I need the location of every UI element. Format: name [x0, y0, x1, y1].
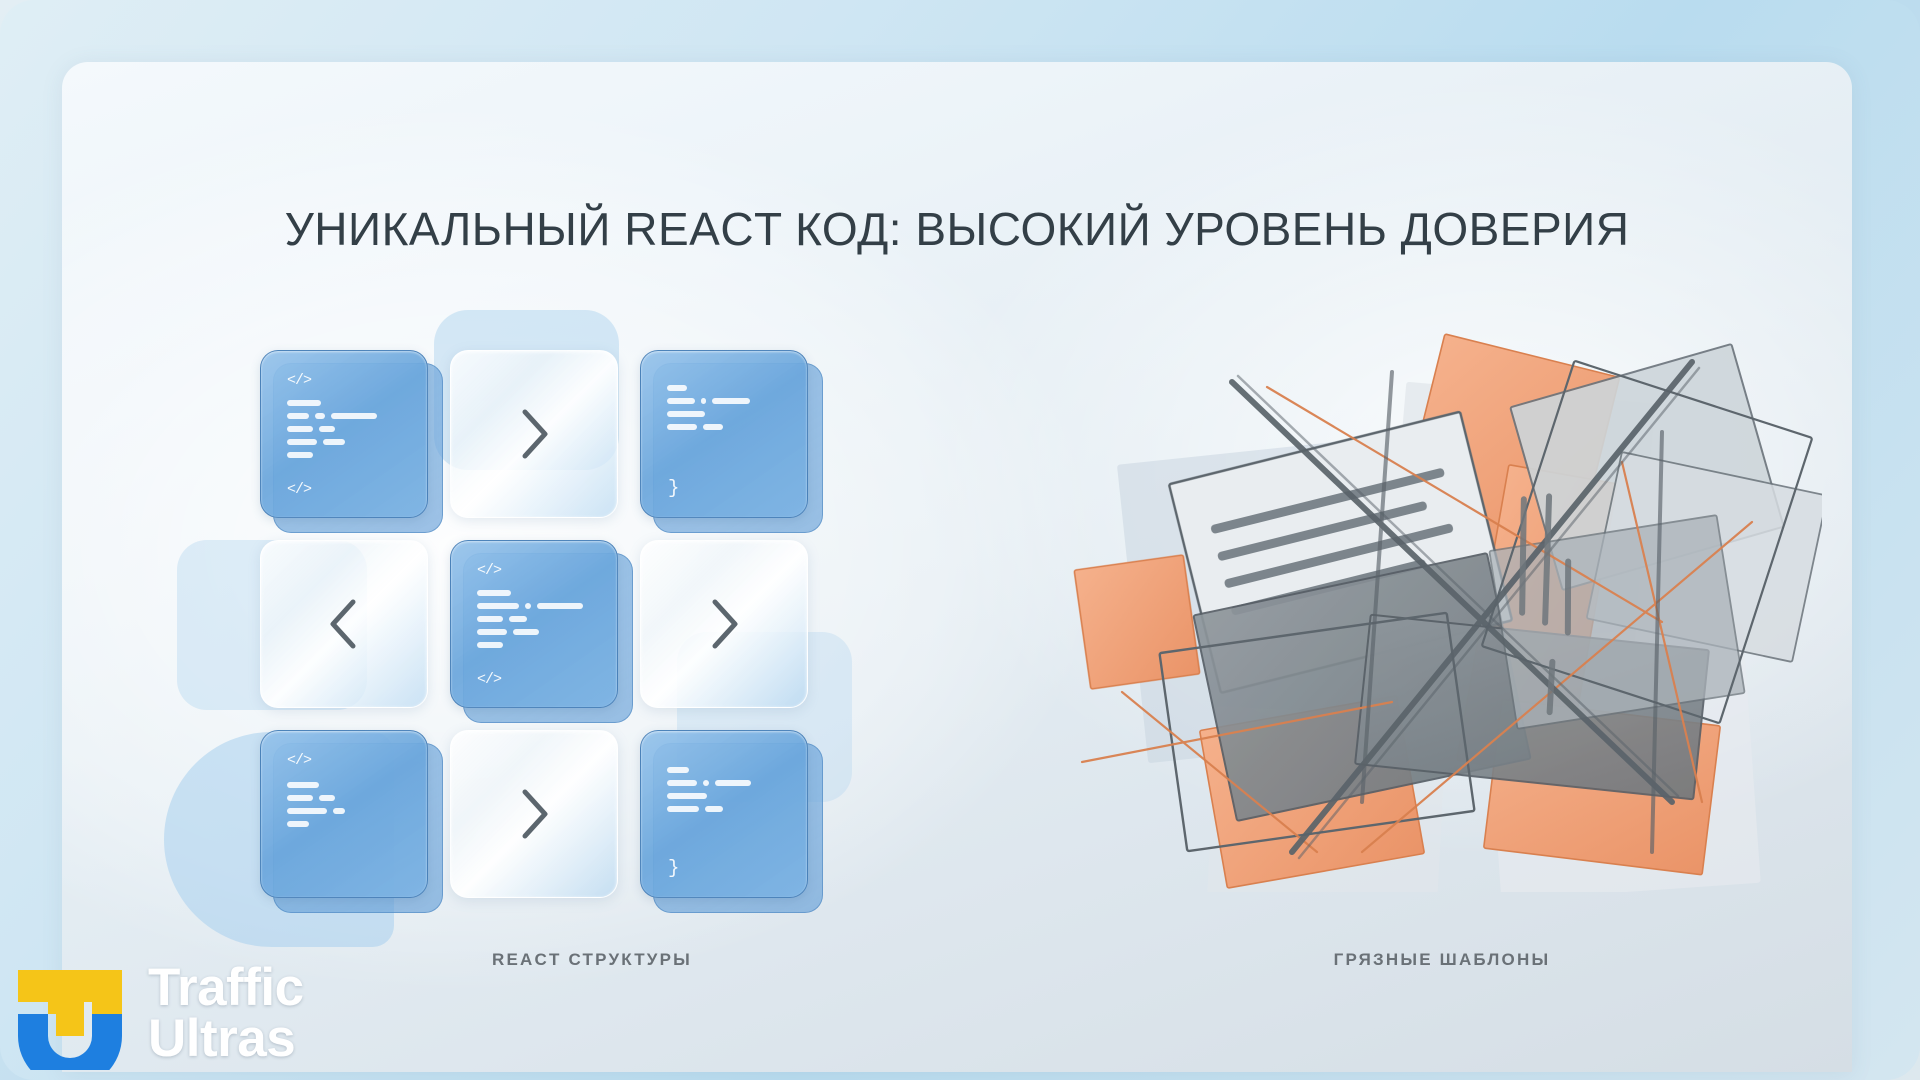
slide-root: УНИКАЛЬНЫЙ REACT КОД: ВЫСОКИЙ УРОВЕНЬ ДО… [0, 0, 1920, 1080]
code-tile-center[interactable]: </> </> [450, 540, 618, 708]
chevron-right-icon [641, 541, 807, 707]
code-lines: </> [287, 373, 413, 465]
panel-messy-templates: ГРЯЗНЫЕ ШАБЛОНЫ [1062, 332, 1822, 892]
close-brace-icon: } [668, 857, 679, 879]
tile-face: </> [260, 730, 428, 898]
code-tile-2[interactable]: } [640, 350, 808, 518]
tile-face: </> </> [260, 350, 428, 518]
brand-name-line2: Ultras [148, 1014, 304, 1065]
messy-templates-illustration [1062, 332, 1822, 892]
open-tag-icon: </> [287, 373, 413, 388]
caption-react-structures: REACT СТРУКТУРЫ [212, 950, 972, 970]
tile-face [450, 350, 618, 518]
tile-face [260, 540, 428, 708]
tu-monogram-icon [14, 958, 126, 1070]
chevron-right-icon [451, 731, 617, 897]
chevron-tile-right-2[interactable] [640, 540, 808, 708]
close-tag-icon: </> [477, 672, 501, 687]
close-brace-icon: } [668, 477, 679, 499]
tile-face: } [640, 350, 808, 518]
open-tag-icon: </> [287, 753, 413, 768]
page-title: УНИКАЛЬНЫЙ REACT КОД: ВЫСОКИЙ УРОВЕНЬ ДО… [62, 202, 1852, 256]
tile-face: } [640, 730, 808, 898]
chevron-right-icon [451, 351, 617, 517]
brand-logo: Traffic Ultras [14, 958, 304, 1070]
caption-messy-templates: ГРЯЗНЫЕ ШАБЛОНЫ [1062, 950, 1822, 970]
code-tile-4[interactable]: } [640, 730, 808, 898]
react-tile-grid: </> </> [260, 350, 808, 898]
chevron-left-icon [261, 541, 427, 707]
code-lines: </> [477, 563, 603, 655]
tile-face [640, 540, 808, 708]
close-tag-icon: </> [287, 482, 311, 497]
content-card: УНИКАЛЬНЫЙ REACT КОД: ВЫСОКИЙ УРОВЕНЬ ДО… [62, 62, 1852, 1072]
tile-face: </> </> [450, 540, 618, 708]
open-tag-icon: </> [477, 563, 603, 578]
code-lines [667, 767, 793, 819]
chevron-tile-right-1[interactable] [450, 350, 618, 518]
chevron-tile-left-1[interactable] [260, 540, 428, 708]
panel-react-structures: </> </> [212, 332, 972, 892]
tile-face [450, 730, 618, 898]
code-lines [667, 385, 793, 437]
code-tile-1[interactable]: </> </> [260, 350, 428, 518]
code-tile-3[interactable]: </> [260, 730, 428, 898]
chevron-tile-right-3[interactable] [450, 730, 618, 898]
code-lines: </> [287, 753, 413, 834]
brand-name-line1: Traffic [148, 963, 304, 1014]
brand-logo-text: Traffic Ultras [148, 963, 304, 1065]
